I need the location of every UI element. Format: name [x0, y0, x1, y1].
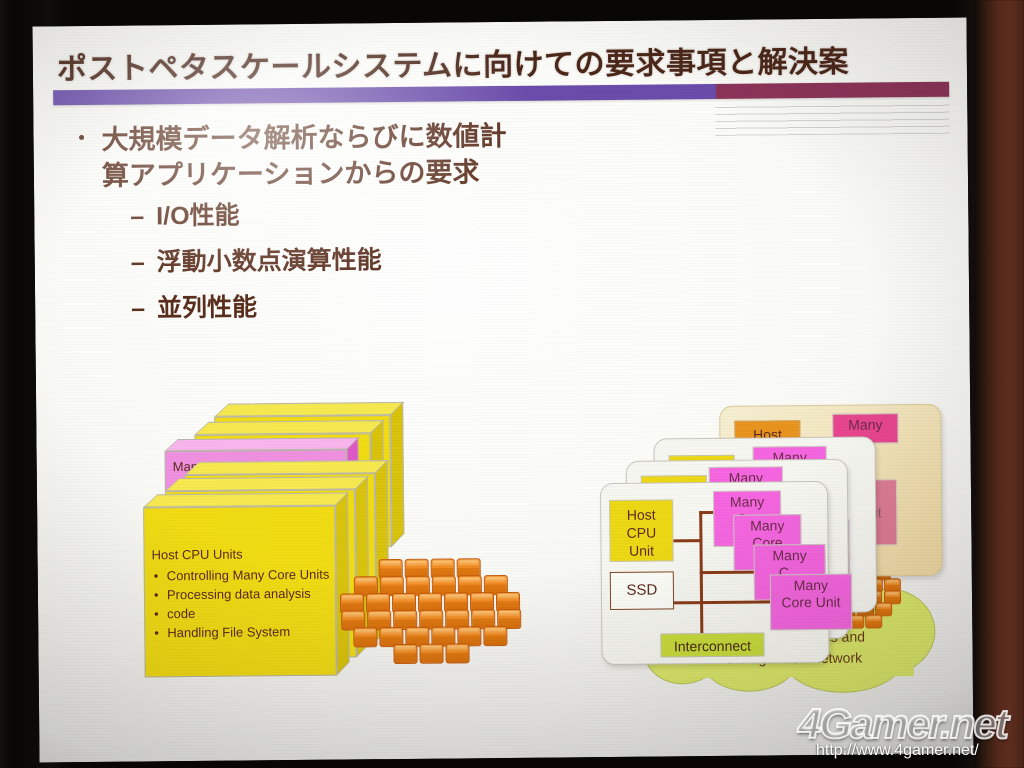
ssd-label: SSD: [626, 582, 657, 599]
bullet-level1-text: 大規模データ解析ならびに数値計 算アプリケーションからの要求: [101, 118, 507, 194]
mcu-line-1: Many: [771, 577, 851, 595]
list-item-cont: code: [167, 603, 340, 624]
left-wall-shadow: [0, 0, 16, 768]
bullet-level2-text: I/O性能: [156, 193, 240, 240]
right-wall-curtain: [975, 0, 1024, 768]
disk-cylinder: [483, 626, 507, 646]
bullet-level2-item: – I/O性能: [130, 188, 692, 239]
left-disk-array: [340, 558, 521, 670]
presentation-slide: ポストペタスケールシステムに向けての要求事項と解決案 ・ 大規模データ解析ならび…: [32, 18, 973, 763]
interconnect-label: Interconnect: [674, 638, 751, 655]
disk-cylinder: [865, 614, 882, 628]
screenshot-stage: ポストペタスケールシステムに向けての要求事項と解決案 ・ 大規模データ解析ならび…: [0, 0, 1024, 768]
mcu-line-1: Many: [714, 493, 780, 511]
ssd-box: SSD: [610, 571, 674, 610]
decorative-lines: [715, 102, 949, 136]
bus-branch: [670, 601, 703, 604]
host-line-1: Host: [610, 505, 672, 524]
bullet-level2-text: 並列性能: [157, 284, 257, 331]
interconnect-box: Interconnect: [660, 633, 764, 658]
bus-branch: [700, 600, 776, 604]
mcu-line-1: Many: [734, 517, 800, 535]
host-cpu-units-text: Host CPU Units Controlling Many Core Uni…: [151, 544, 340, 643]
list-item: Controlling Many Core Units: [167, 565, 340, 586]
node-card-front: Host CPU Unit SSD Interconnect Many C...: [600, 481, 830, 665]
slide-body: ・ 大規模データ解析ならびに数値計 算アプリケーションからの要求 – I/O性能…: [71, 116, 693, 332]
disk-cylinder: [393, 644, 417, 664]
bullet-level2-text: 浮動小数点演算性能: [156, 237, 381, 285]
host-line-3: Unit: [610, 541, 672, 560]
page-title: ポストペタスケールシステムに向けての要求事項と解決案: [57, 36, 937, 88]
watermark-url: http://www.4gamer.net/: [816, 742, 979, 760]
bullet-level1: ・ 大規模データ解析ならびに数値計 算アプリケーションからの要求: [71, 116, 692, 194]
disk-cylinder: [419, 644, 443, 664]
slab-side-face: [390, 401, 404, 547]
bus-branch: [700, 571, 756, 575]
disk-cylinder: [445, 643, 469, 663]
bullet-marker-icon: ・: [71, 122, 92, 194]
mcu-line-1: Many: [755, 547, 825, 565]
host-line-2: CPU: [610, 523, 672, 542]
host-cpu-units-list: Controlling Many Core Units Processing d…: [152, 565, 341, 643]
bus-trunk: [699, 511, 703, 643]
watermark: 4Gamer.net http://www.4gamer.net/: [790, 700, 1024, 768]
bus-branch: [669, 539, 702, 542]
mcu-label: Many: [848, 416, 882, 432]
list-item: Processing data analysis: [167, 584, 340, 605]
mcu-line-2: Core Unit: [771, 594, 851, 612]
watermark-logo: 4Gamer.net: [798, 700, 1007, 748]
host-cpu-units-heading: Host CPU Units: [151, 544, 339, 565]
projection-screen: ポストペタスケールシステムに向けての要求事項と解決案 ・ 大規模データ解析ならび…: [32, 18, 973, 763]
many-core-unit-box: Many Core Unit: [770, 574, 853, 631]
host-cpu-unit-box: Host CPU Unit: [609, 499, 674, 562]
dash-marker-icon: –: [131, 239, 145, 285]
dash-marker-icon: –: [130, 193, 144, 239]
list-item: Handling File System: [167, 622, 340, 643]
left-figure: Many Core Units Number Crunching: [106, 411, 408, 664]
disk-cylinder: [353, 627, 377, 647]
dash-marker-icon: –: [131, 285, 145, 331]
right-figure: Network for Nodes and Storage Area Netwo…: [591, 396, 973, 700]
bullet-level2-item: – 並列性能: [131, 280, 693, 331]
bullet-level2-item: – 浮動小数点演算性能: [131, 234, 693, 285]
